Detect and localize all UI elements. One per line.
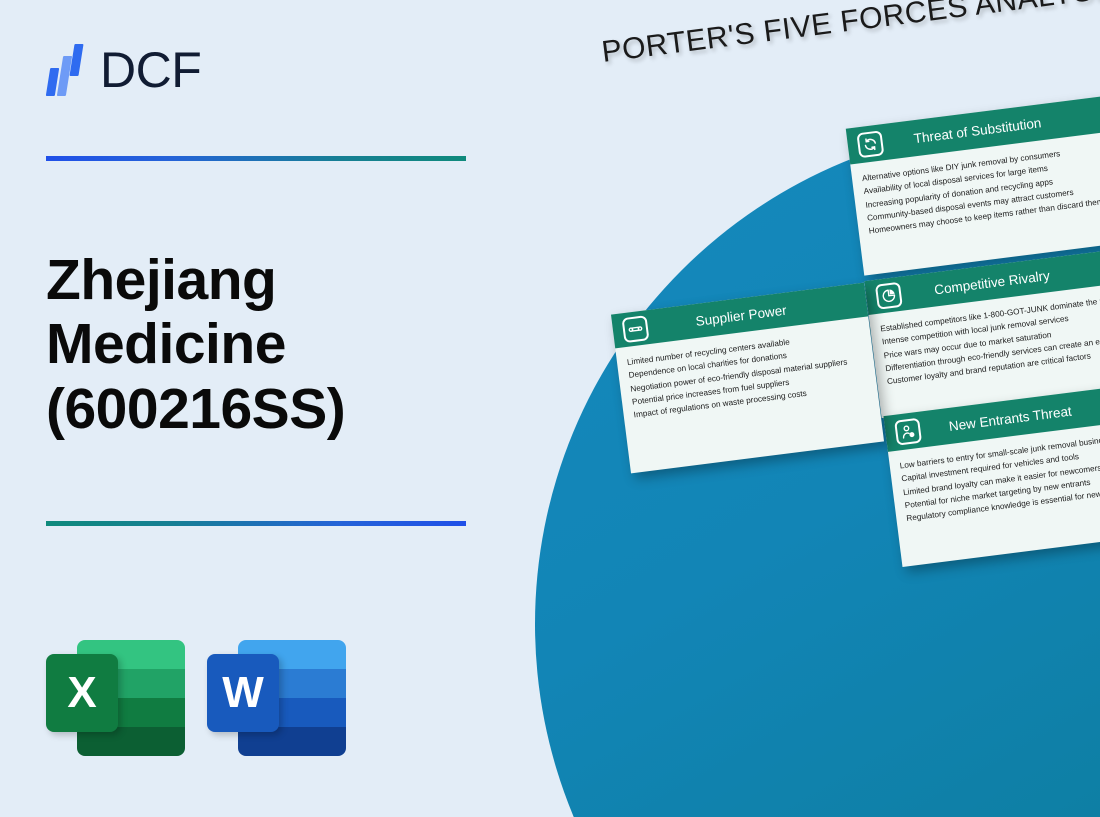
dcf-bars-logo-icon	[46, 42, 88, 98]
divider-bottom	[46, 521, 466, 526]
person-add-icon	[894, 417, 922, 445]
handshake-link-icon	[621, 315, 649, 343]
divider-top	[46, 156, 466, 161]
porters-five-forces-graphic: PORTER'S FIVE FORCES ANALYSIS ▸▸ ▸▸ Thre…	[468, 0, 1100, 817]
brand-logo-text: DCF	[100, 41, 201, 99]
card-supplier-power[interactable]: Supplier Power Limited number of recycli…	[611, 283, 884, 474]
word-file-icon[interactable]: W	[207, 632, 346, 756]
graphic-banner-title: PORTER'S FIVE FORCES ANALYSIS	[600, 0, 1100, 70]
card-new-entrants-threat[interactable]: New Entrants Threat Low barriers to entr…	[883, 385, 1100, 567]
page-root: DCF Zhejiang Medicine (600216SS) X W POR…	[0, 0, 1100, 817]
brand-logo[interactable]: DCF	[46, 40, 201, 100]
page-title: Zhejiang Medicine (600216SS)	[46, 248, 506, 441]
card-threat-of-substitution[interactable]: Threat of Substitution Alternative optio…	[846, 96, 1100, 275]
refresh-sync-icon	[856, 130, 884, 158]
word-icon-letter: W	[207, 654, 279, 732]
excel-file-icon[interactable]: X	[46, 632, 185, 756]
excel-icon-letter: X	[46, 654, 118, 732]
pie-chart-icon	[875, 281, 903, 309]
download-icons: X W	[46, 632, 346, 756]
